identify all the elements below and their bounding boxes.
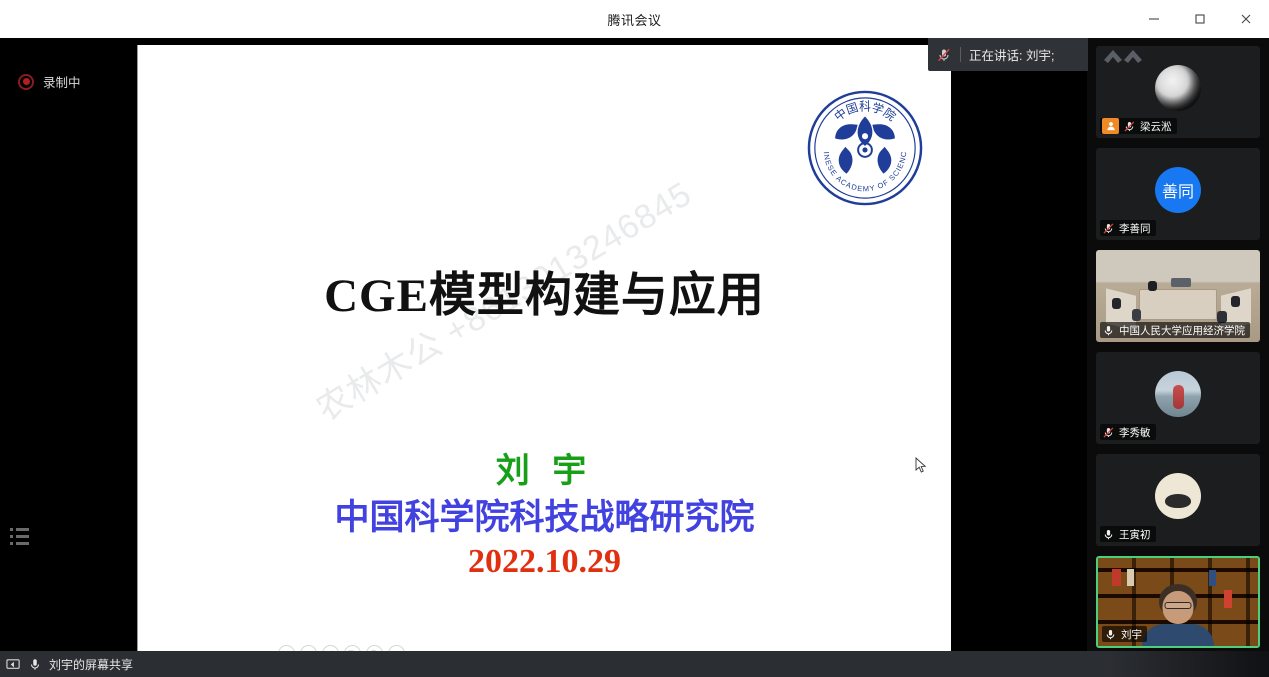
slide-title: CGE模型构建与应用 — [138, 256, 951, 325]
participant-name-bar: 中国人民大学应用经济学院 — [1100, 322, 1250, 338]
screen-share-icon — [6, 657, 21, 672]
participant-name: 李秀敏 — [1119, 425, 1151, 440]
slide-date: 2022.10.29 — [138, 543, 951, 581]
slide-watermark: 农林木公 +8613013246845 — [305, 69, 862, 430]
participant-name-bar: 李善同 — [1100, 220, 1156, 236]
recording-indicator: 录制中 — [18, 72, 81, 91]
tencent-meeting-window: 腾讯会议 录制中 — [0, 0, 1269, 677]
mic-muted-icon — [1102, 426, 1115, 439]
shared-screen-area: 中国科学院 CHINESE ACADEMY OF SCIENCES 农林木公 +… — [137, 38, 951, 661]
window-controls — [1131, 0, 1269, 38]
participant-name-bar: 梁云淞 — [1100, 118, 1177, 134]
meeting-stage: 录制中 — [0, 38, 1269, 661]
participant-name-bar: 王寅初 — [1100, 526, 1156, 542]
list-icon[interactable] — [10, 528, 30, 546]
participant-name-bar: 李秀敏 — [1100, 424, 1156, 440]
participant-tile[interactable]: 王寅初 — [1096, 454, 1260, 546]
participant-name-bar: 刘宇 — [1102, 626, 1147, 642]
participant-tile[interactable]: 刘宇 — [1096, 556, 1260, 648]
host-badge-icon — [1102, 118, 1119, 134]
record-dot-icon — [18, 74, 34, 90]
participant-name: 梁云淞 — [1140, 119, 1172, 134]
tencent-meeting-logo — [1100, 44, 1166, 70]
mouse-cursor — [915, 457, 927, 474]
slide-organization: 中国科学院科技战略研究院 — [138, 489, 951, 540]
cas-logo-icon: 中国科学院 CHINESE ACADEMY OF SCIENCES — [806, 89, 924, 207]
speaking-text: 正在讲话: 刘宇; — [969, 45, 1054, 64]
participant-tile[interactable]: 善同 李善同 — [1096, 148, 1260, 240]
mic-icon — [1102, 528, 1115, 541]
recording-label: 录制中 — [43, 72, 81, 91]
slide-author: 刘 宇 — [138, 443, 951, 492]
participant-name: 刘宇 — [1121, 627, 1142, 642]
avatar — [1155, 371, 1201, 417]
stage-filler — [951, 38, 1087, 661]
minimize-icon[interactable] — [1131, 0, 1177, 38]
mic-muted-icon — [1123, 120, 1136, 133]
title-bar: 腾讯会议 — [0, 0, 1269, 38]
close-icon[interactable] — [1223, 0, 1269, 38]
participant-sidebar[interactable]: 梁云淞 善同 李善同 — [1087, 38, 1269, 661]
mic-muted-icon — [1102, 222, 1115, 235]
mic-icon — [1104, 628, 1117, 641]
left-rail: 录制中 — [0, 38, 137, 661]
participant-name: 李善同 — [1119, 221, 1151, 236]
mic-muted-icon — [936, 47, 952, 63]
avatar — [1155, 473, 1201, 519]
presentation-slide[interactable]: 中国科学院 CHINESE ACADEMY OF SCIENCES 农林木公 +… — [137, 45, 951, 653]
participant-tile[interactable]: 中国人民大学应用经济学院 — [1096, 250, 1260, 342]
maximize-icon[interactable] — [1177, 0, 1223, 38]
window-title: 腾讯会议 — [607, 10, 661, 29]
mic-icon — [1102, 324, 1115, 337]
share-bar-text: 刘宇的屏幕共享 — [49, 656, 133, 673]
speaking-banner: 正在讲话: 刘宇; — [928, 38, 1088, 71]
participant-name: 中国人民大学应用经济学院 — [1119, 323, 1245, 338]
participant-tile[interactable]: 李秀敏 — [1096, 352, 1260, 444]
participant-name: 王寅初 — [1119, 527, 1151, 542]
screen-share-bar: 刘宇的屏幕共享 — [0, 651, 1269, 677]
avatar: 善同 — [1155, 167, 1201, 213]
share-bar-fade — [1109, 651, 1269, 677]
avatar — [1155, 65, 1201, 111]
mic-icon[interactable] — [28, 657, 42, 672]
